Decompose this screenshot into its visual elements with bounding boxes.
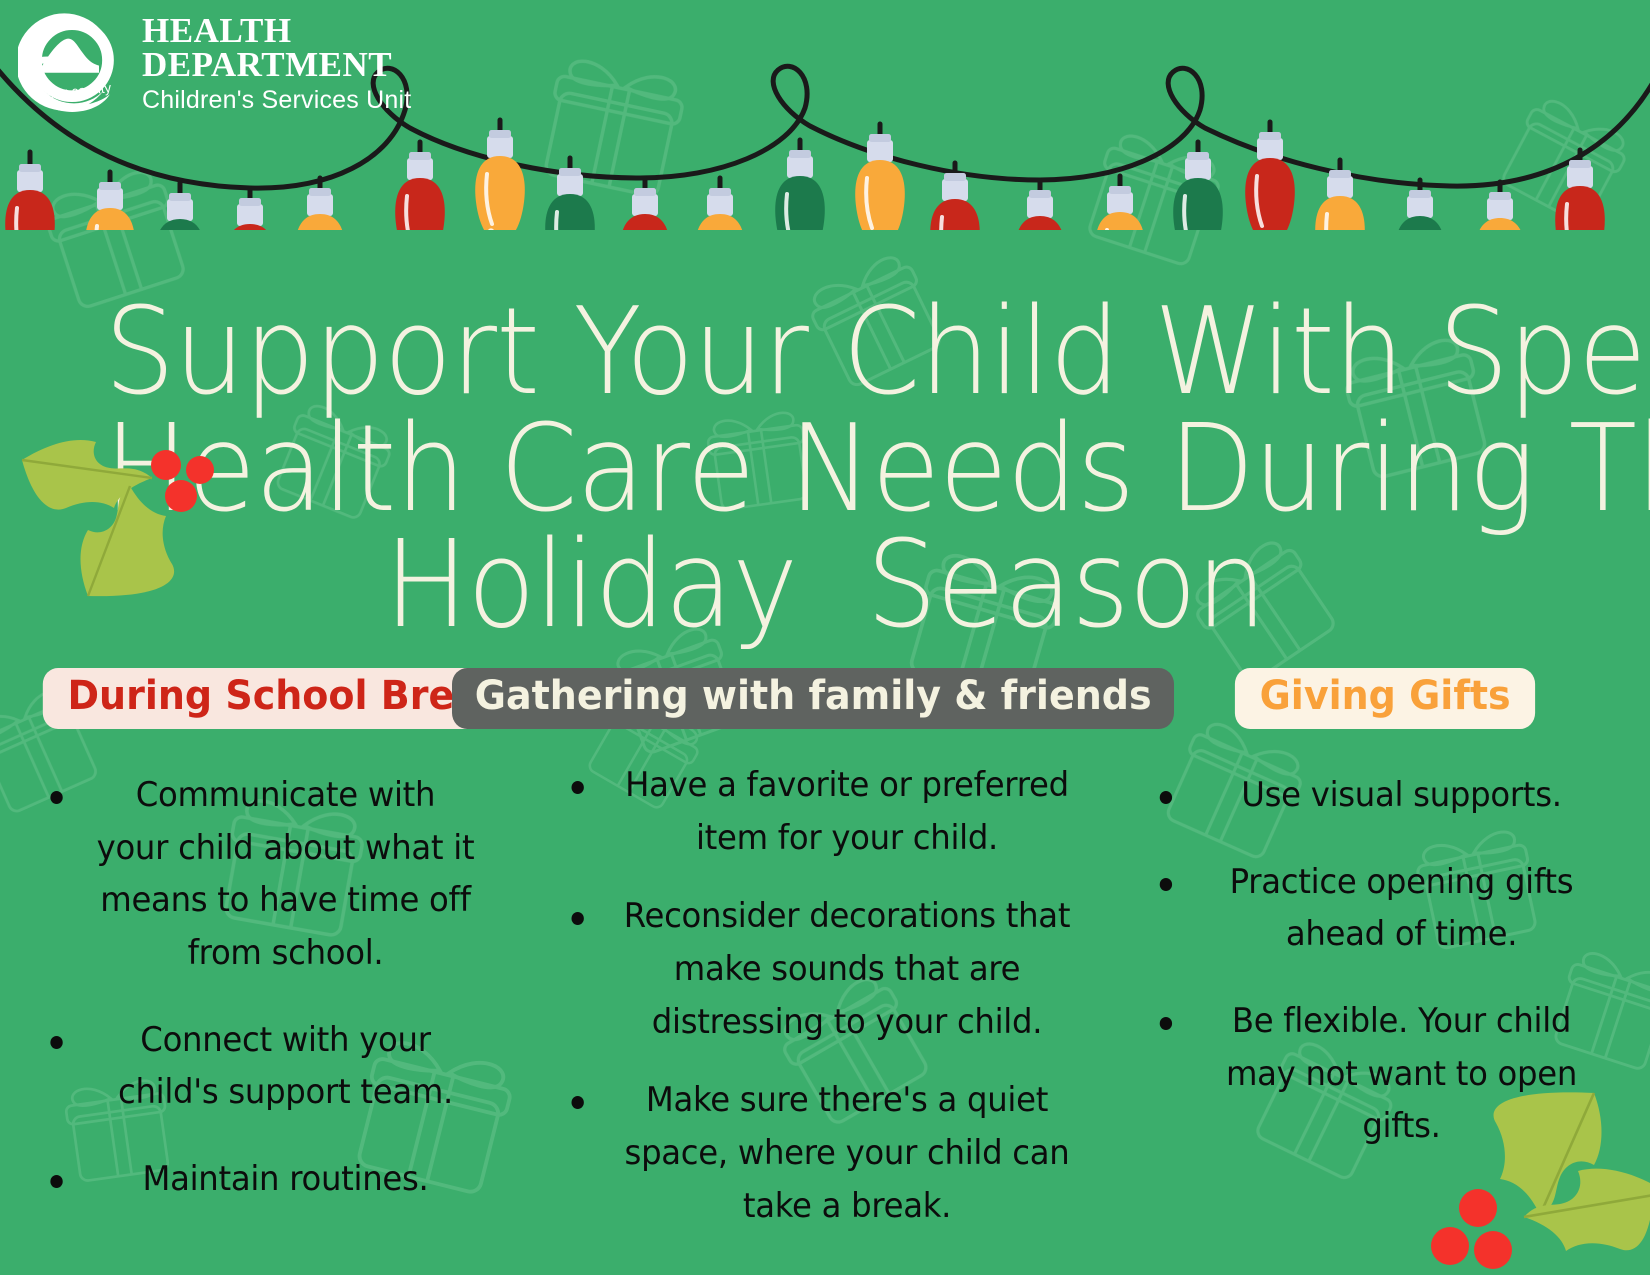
list-item: Make sure there's a quiet space, where y… — [621, 1074, 1073, 1232]
tips-list-during-school-break: Communicate with your child about what i… — [8, 769, 523, 1206]
list-item-text: Reconsider decorations that make sounds … — [624, 896, 1070, 1041]
list-item: Reconsider decorations that make sounds … — [621, 890, 1073, 1048]
health-department-logo: essex county HEALTH DEPARTMENT Children'… — [18, 8, 411, 116]
list-item-text: Use visual supports. — [1241, 775, 1561, 815]
tips-list-giving-gifts: Use visual supports. Practice opening gi… — [1103, 769, 1650, 1153]
list-item: Maintain routines. — [96, 1153, 475, 1206]
column-during-school-break: During School Break Communicate with you… — [0, 668, 523, 1275]
headline-line-3: Holiday Season — [104, 528, 1546, 644]
column-giving-gifts: Giving Gifts Use visual supports. Practi… — [1103, 668, 1650, 1275]
bullet-dot — [572, 1096, 584, 1109]
list-item-text: Make sure there's a quiet space, where y… — [625, 1080, 1070, 1225]
list-item: Use visual supports. — [1209, 769, 1594, 822]
holiday-support-flyer: essex county HEALTH DEPARTMENT Children'… — [0, 0, 1650, 1275]
list-item: Have a favorite or preferred item for yo… — [621, 759, 1073, 864]
page-title: Support Your Child With Special Health C… — [104, 295, 1546, 644]
column-gathering-with-family-friends: Gathering with family & friends Have a f… — [523, 668, 1103, 1275]
list-item-text: Connect with your child's support team. — [118, 1020, 453, 1113]
tips-list-gathering-with-family-friends: Have a favorite or preferred item for yo… — [523, 759, 1103, 1233]
section-heading-gathering-with-family-friends: Gathering with family & friends — [452, 668, 1174, 729]
org-unit: Children's Services Unit — [142, 85, 411, 115]
bullet-dot — [572, 781, 584, 794]
essex-county-mountain-logo-icon: essex county — [18, 8, 126, 116]
bullet-dot — [50, 791, 62, 804]
logo-wordmark: HEALTH DEPARTMENT Children's Services Un… — [142, 8, 411, 115]
list-item-text: Have a favorite or preferred item for yo… — [625, 765, 1069, 858]
list-item-text: Maintain routines. — [142, 1159, 428, 1199]
bullet-dot — [572, 912, 584, 925]
list-item: Connect with your child's support team. — [96, 1014, 475, 1119]
tips-columns: During School Break Communicate with you… — [0, 668, 1650, 1275]
headline-line-2: Health Care Needs During The — [104, 412, 1546, 528]
bullet-dot — [50, 1175, 62, 1188]
bullet-dot — [50, 1036, 62, 1049]
list-item: Practice opening gifts ahead of time. — [1209, 856, 1594, 961]
list-item-text: Practice opening gifts ahead of time. — [1230, 862, 1574, 955]
bullet-dot — [1160, 791, 1172, 804]
org-line2: DEPARTMENT — [142, 48, 411, 82]
list-item: Communicate with your child about what i… — [96, 769, 475, 980]
list-item-text: Be flexible. Your child may not want to … — [1226, 1001, 1577, 1146]
org-line1: HEALTH — [142, 14, 411, 48]
list-item: Be flexible. Your child may not want to … — [1209, 995, 1594, 1153]
section-heading-giving-gifts: Giving Gifts — [1235, 668, 1535, 729]
bullet-dot — [1160, 1017, 1172, 1030]
list-item-text: Communicate with your child about what i… — [97, 775, 475, 973]
headline-line-1: Support Your Child With Special — [104, 295, 1546, 411]
bullet-dot — [1160, 878, 1172, 891]
